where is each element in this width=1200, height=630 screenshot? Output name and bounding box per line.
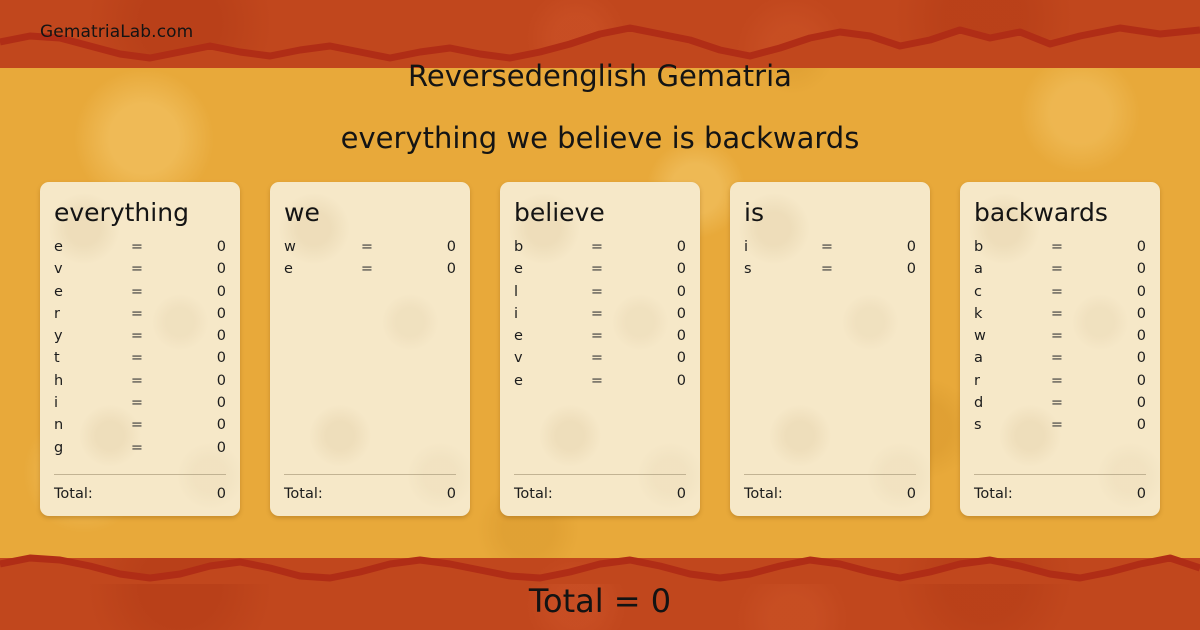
letter-row: a=0: [974, 261, 1146, 283]
letter-glyph: e: [514, 261, 572, 277]
equals-sign: =: [112, 395, 162, 411]
total-value: 0: [217, 486, 226, 502]
letter-value: 0: [1082, 239, 1146, 255]
equals-sign: =: [112, 440, 162, 456]
letter-value: 0: [622, 306, 686, 322]
letter-value: 0: [1082, 306, 1146, 322]
letter-glyph: w: [284, 239, 342, 255]
letter-glyph: e: [54, 239, 112, 255]
equals-sign: =: [112, 373, 162, 389]
equals-sign: =: [1032, 373, 1082, 389]
letter-row: b=0: [974, 239, 1146, 261]
total-label: Total:: [514, 486, 677, 502]
letter-row: i=0: [744, 239, 916, 261]
letter-glyph: k: [974, 306, 1032, 322]
letter-row: s=0: [744, 261, 916, 283]
word-total-row: Total:0: [284, 475, 456, 502]
letter-glyph: e: [514, 373, 572, 389]
letter-glyph: e: [514, 328, 572, 344]
letter-rows: e=0v=0e=0r=0y=0t=0h=0i=0n=0g=0: [54, 239, 226, 474]
total-divider: [744, 474, 916, 475]
word-title: everything: [54, 199, 226, 227]
word-total-row: Total:0: [514, 475, 686, 502]
letter-value: 0: [852, 261, 916, 277]
equals-sign: =: [112, 350, 162, 366]
equals-sign: =: [112, 306, 162, 322]
letter-glyph: s: [974, 417, 1032, 433]
letter-value: 0: [392, 261, 456, 277]
letter-glyph: n: [54, 417, 112, 433]
total-label: Total:: [744, 486, 907, 502]
letter-row: l=0: [514, 284, 686, 306]
letter-glyph: i: [54, 395, 112, 411]
total-value: 0: [907, 486, 916, 502]
word-card: backwardsb=0a=0c=0k=0w=0a=0r=0d=0s=0Tota…: [960, 182, 1160, 516]
letter-rows: i=0s=0: [744, 239, 916, 474]
equals-sign: =: [1032, 284, 1082, 300]
letter-value: 0: [622, 373, 686, 389]
letter-row: d=0: [974, 395, 1146, 417]
total-divider: [284, 474, 456, 475]
letter-row: e=0: [54, 239, 226, 261]
equals-sign: =: [1032, 417, 1082, 433]
letter-glyph: g: [54, 440, 112, 456]
letter-glyph: a: [974, 261, 1032, 277]
letter-row: e=0: [54, 284, 226, 306]
letter-glyph: e: [54, 284, 112, 300]
letter-glyph: w: [974, 328, 1032, 344]
letter-row: y=0: [54, 328, 226, 350]
word-total-row: Total:0: [744, 475, 916, 502]
page-title: Reversedenglish Gematria: [0, 59, 1200, 93]
letter-row: e=0: [514, 328, 686, 350]
letter-row: v=0: [514, 350, 686, 372]
total-label: Total:: [284, 486, 447, 502]
letter-glyph: t: [54, 350, 112, 366]
total-value: 0: [447, 486, 456, 502]
letter-glyph: b: [514, 239, 572, 255]
letter-rows: b=0e=0l=0i=0e=0v=0e=0: [514, 239, 686, 474]
word-card-list: everythinge=0v=0e=0r=0y=0t=0h=0i=0n=0g=0…: [40, 182, 1160, 516]
equals-sign: =: [112, 328, 162, 344]
letter-value: 0: [1082, 328, 1146, 344]
letter-glyph: c: [974, 284, 1032, 300]
equals-sign: =: [1032, 350, 1082, 366]
equals-sign: =: [342, 261, 392, 277]
letter-glyph: s: [744, 261, 802, 277]
letter-value: 0: [622, 284, 686, 300]
equals-sign: =: [112, 284, 162, 300]
letter-glyph: a: [974, 350, 1032, 366]
equals-sign: =: [572, 350, 622, 366]
equals-sign: =: [572, 239, 622, 255]
letter-row: b=0: [514, 239, 686, 261]
equals-sign: =: [572, 373, 622, 389]
site-logo[interactable]: GematriaLab.com: [40, 22, 193, 42]
gematria-result-card: GematriaLab.com Reversedenglish Gematria…: [0, 0, 1200, 630]
total-label: Total:: [54, 486, 217, 502]
phrase-heading: everything we believe is backwards: [0, 121, 1200, 155]
letter-row: w=0: [284, 239, 456, 261]
word-card: isi=0s=0Total:0: [730, 182, 930, 516]
equals-sign: =: [1032, 395, 1082, 411]
word-title: is: [744, 199, 916, 227]
letter-glyph: h: [54, 373, 112, 389]
equals-sign: =: [342, 239, 392, 255]
letter-row: v=0: [54, 261, 226, 283]
equals-sign: =: [572, 284, 622, 300]
letter-row: s=0: [974, 417, 1146, 439]
letter-row: g=0: [54, 440, 226, 462]
bottom-wave-divider: [0, 538, 1200, 584]
letter-rows: w=0e=0: [284, 239, 456, 474]
equals-sign: =: [572, 306, 622, 322]
total-label: Total:: [974, 486, 1137, 502]
letter-glyph: r: [974, 373, 1032, 389]
word-card: everythinge=0v=0e=0r=0y=0t=0h=0i=0n=0g=0…: [40, 182, 240, 516]
letter-value: 0: [1082, 395, 1146, 411]
letter-value: 0: [162, 417, 226, 433]
equals-sign: =: [802, 239, 852, 255]
letter-glyph: d: [974, 395, 1032, 411]
letter-glyph: l: [514, 284, 572, 300]
letter-value: 0: [162, 395, 226, 411]
letter-glyph: e: [284, 261, 342, 277]
equals-sign: =: [112, 261, 162, 277]
letter-value: 0: [622, 261, 686, 277]
letter-row: r=0: [974, 373, 1146, 395]
letter-value: 0: [1082, 350, 1146, 366]
letter-row: e=0: [284, 261, 456, 283]
word-title: backwards: [974, 199, 1146, 227]
letter-value: 0: [162, 350, 226, 366]
letter-value: 0: [392, 239, 456, 255]
equals-sign: =: [1032, 328, 1082, 344]
letter-row: a=0: [974, 350, 1146, 372]
word-title: believe: [514, 199, 686, 227]
letter-value: 0: [162, 284, 226, 300]
equals-sign: =: [1032, 261, 1082, 277]
letter-value: 0: [622, 350, 686, 366]
letter-row: e=0: [514, 373, 686, 395]
total-divider: [514, 474, 686, 475]
letter-value: 0: [162, 440, 226, 456]
total-divider: [54, 474, 226, 475]
letter-value: 0: [1082, 417, 1146, 433]
word-total-row: Total:0: [974, 475, 1146, 502]
letter-value: 0: [1082, 284, 1146, 300]
letter-value: 0: [1082, 261, 1146, 277]
letter-row: w=0: [974, 328, 1146, 350]
equals-sign: =: [802, 261, 852, 277]
letter-row: k=0: [974, 306, 1146, 328]
letter-glyph: v: [54, 261, 112, 277]
letter-value: 0: [162, 306, 226, 322]
letter-row: h=0: [54, 373, 226, 395]
equals-sign: =: [1032, 239, 1082, 255]
equals-sign: =: [572, 261, 622, 277]
letter-value: 0: [162, 261, 226, 277]
equals-sign: =: [112, 239, 162, 255]
letter-glyph: y: [54, 328, 112, 344]
letter-value: 0: [162, 373, 226, 389]
letter-glyph: i: [514, 306, 572, 322]
letter-value: 0: [162, 328, 226, 344]
letter-row: r=0: [54, 306, 226, 328]
letter-glyph: v: [514, 350, 572, 366]
letter-glyph: b: [974, 239, 1032, 255]
letter-value: 0: [852, 239, 916, 255]
total-value: 0: [677, 486, 686, 502]
equals-sign: =: [112, 417, 162, 433]
letter-row: n=0: [54, 417, 226, 439]
word-title: we: [284, 199, 456, 227]
letter-row: e=0: [514, 261, 686, 283]
word-total-row: Total:0: [54, 475, 226, 502]
letter-row: c=0: [974, 284, 1146, 306]
letter-row: i=0: [514, 306, 686, 328]
letter-rows: b=0a=0c=0k=0w=0a=0r=0d=0s=0: [974, 239, 1146, 474]
total-value: 0: [1137, 486, 1146, 502]
total-divider: [974, 474, 1146, 475]
letter-glyph: r: [54, 306, 112, 322]
letter-value: 0: [1082, 373, 1146, 389]
equals-sign: =: [1032, 306, 1082, 322]
letter-row: i=0: [54, 395, 226, 417]
equals-sign: =: [572, 328, 622, 344]
grand-total: Total = 0: [0, 582, 1200, 620]
letter-glyph: i: [744, 239, 802, 255]
letter-value: 0: [622, 328, 686, 344]
letter-value: 0: [622, 239, 686, 255]
word-card: wew=0e=0Total:0: [270, 182, 470, 516]
word-card: believeb=0e=0l=0i=0e=0v=0e=0Total:0: [500, 182, 700, 516]
letter-row: t=0: [54, 350, 226, 372]
letter-value: 0: [162, 239, 226, 255]
